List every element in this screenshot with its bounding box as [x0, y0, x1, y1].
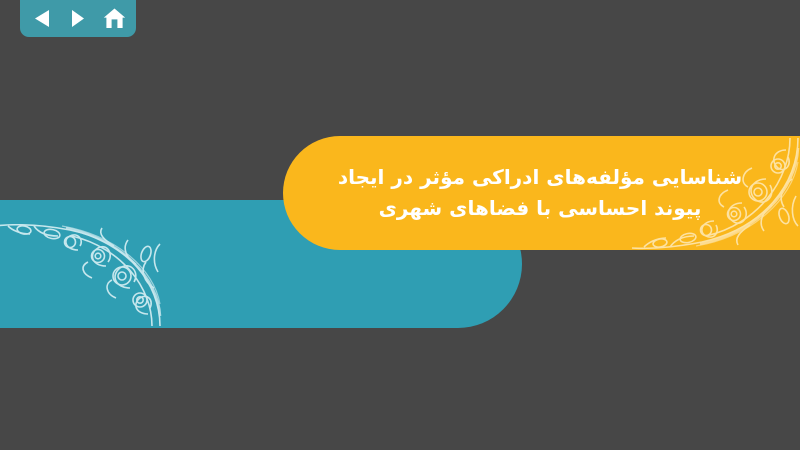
triangle-left-icon [34, 9, 51, 28]
triangle-right-icon [71, 9, 85, 28]
presentation-slide: شناسایی مؤلفه‌های ادراکی مؤثر در ایجاد پ… [0, 0, 800, 450]
arabesque-corner-ornament [630, 136, 800, 250]
arabesque-corner-ornament [0, 224, 162, 328]
next-button[interactable] [64, 6, 92, 32]
home-button[interactable] [100, 6, 128, 32]
previous-button[interactable] [28, 6, 56, 32]
navigation-bar [20, 0, 136, 37]
yellow-band [283, 136, 800, 250]
home-icon [103, 8, 126, 29]
